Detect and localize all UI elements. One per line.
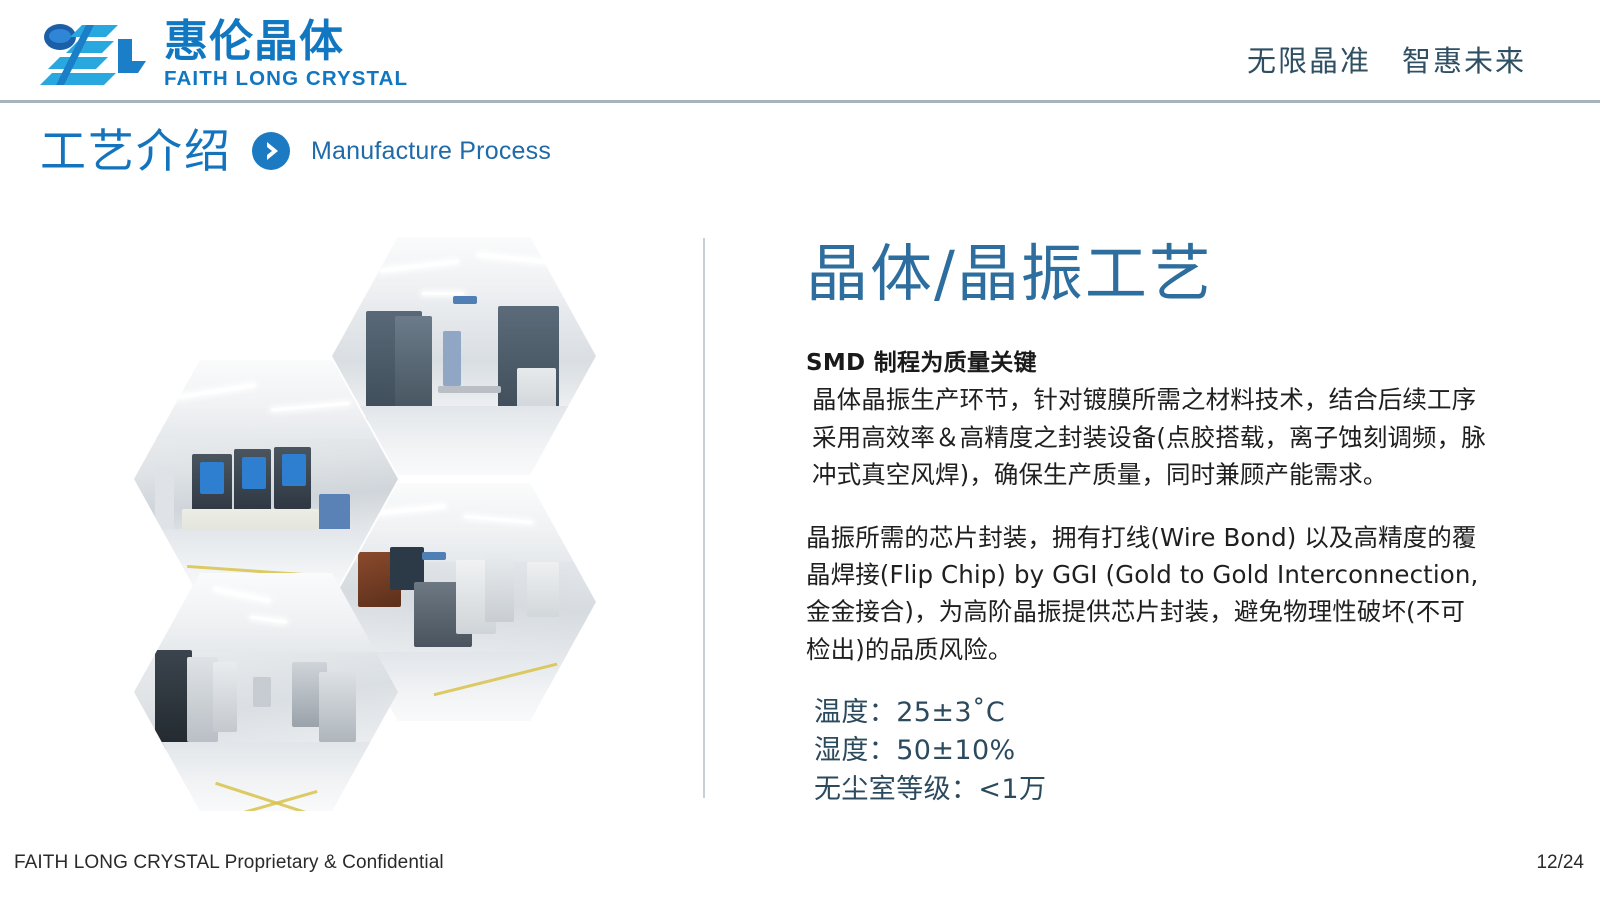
logo-chinese-name: 惠伦晶体 <box>164 20 408 65</box>
content-panel: 晶体/晶振工艺 SMD 制程为质量关键 晶体晶振生产环节，针对镀膜所需之材料技术… <box>806 238 1486 809</box>
body-text-block: SMD 制程为质量关键 晶体晶振生产环节，针对镀膜所需之材料技术，结合后续工序采… <box>806 343 1486 668</box>
spec-humidity: 湿度：50±10% <box>814 732 1486 770</box>
spec-temperature: 温度：25±3˚C <box>814 694 1486 732</box>
brand-logo: 惠伦晶体 FAITH LONG CRYSTAL <box>34 20 408 90</box>
section-title-chinese: 工艺介绍 <box>40 128 232 174</box>
section-title: 工艺介绍 Manufacture Process <box>40 128 551 174</box>
header-divider-rule <box>0 100 1600 103</box>
logo-wordmark: 惠伦晶体 FAITH LONG CRYSTAL <box>164 20 408 90</box>
spec-cleanroom-class: 无尘室等级：<1万 <box>814 771 1486 809</box>
vertical-divider <box>703 238 705 798</box>
chevron-right-circle-icon <box>251 131 291 171</box>
paragraph-heading: SMD 制程为质量关键 <box>806 343 1486 377</box>
hexagon-photo-cluster <box>120 230 640 810</box>
footer-confidential-notice: FAITH LONG CRYSTAL Proprietary & Confide… <box>14 852 444 874</box>
faith-long-crystal-logo-mark <box>34 21 158 89</box>
slide-header: 惠伦晶体 FAITH LONG CRYSTAL 无限晶准 智惠未来 <box>0 0 1600 101</box>
header-tagline: 无限晶准 智惠未来 <box>1247 38 1526 80</box>
section-title-english: Manufacture Process <box>311 137 551 166</box>
paragraph-two: 晶振所需的芯片封装，拥有打线(Wire Bond) 以及高精度的覆晶焊接(Fli… <box>806 519 1486 668</box>
paragraph-one: 晶体晶振生产环节，针对镀膜所需之材料技术，结合后续工序采用高效率＆高精度之封装设… <box>806 381 1486 493</box>
footer-page-number: 12/24 <box>1536 852 1584 874</box>
specification-list: 温度：25±3˚C 湿度：50±10% 无尘室等级：<1万 <box>806 694 1486 809</box>
logo-english-name: FAITH LONG CRYSTAL <box>164 67 408 91</box>
main-heading: 晶体/晶振工艺 <box>806 238 1486 309</box>
